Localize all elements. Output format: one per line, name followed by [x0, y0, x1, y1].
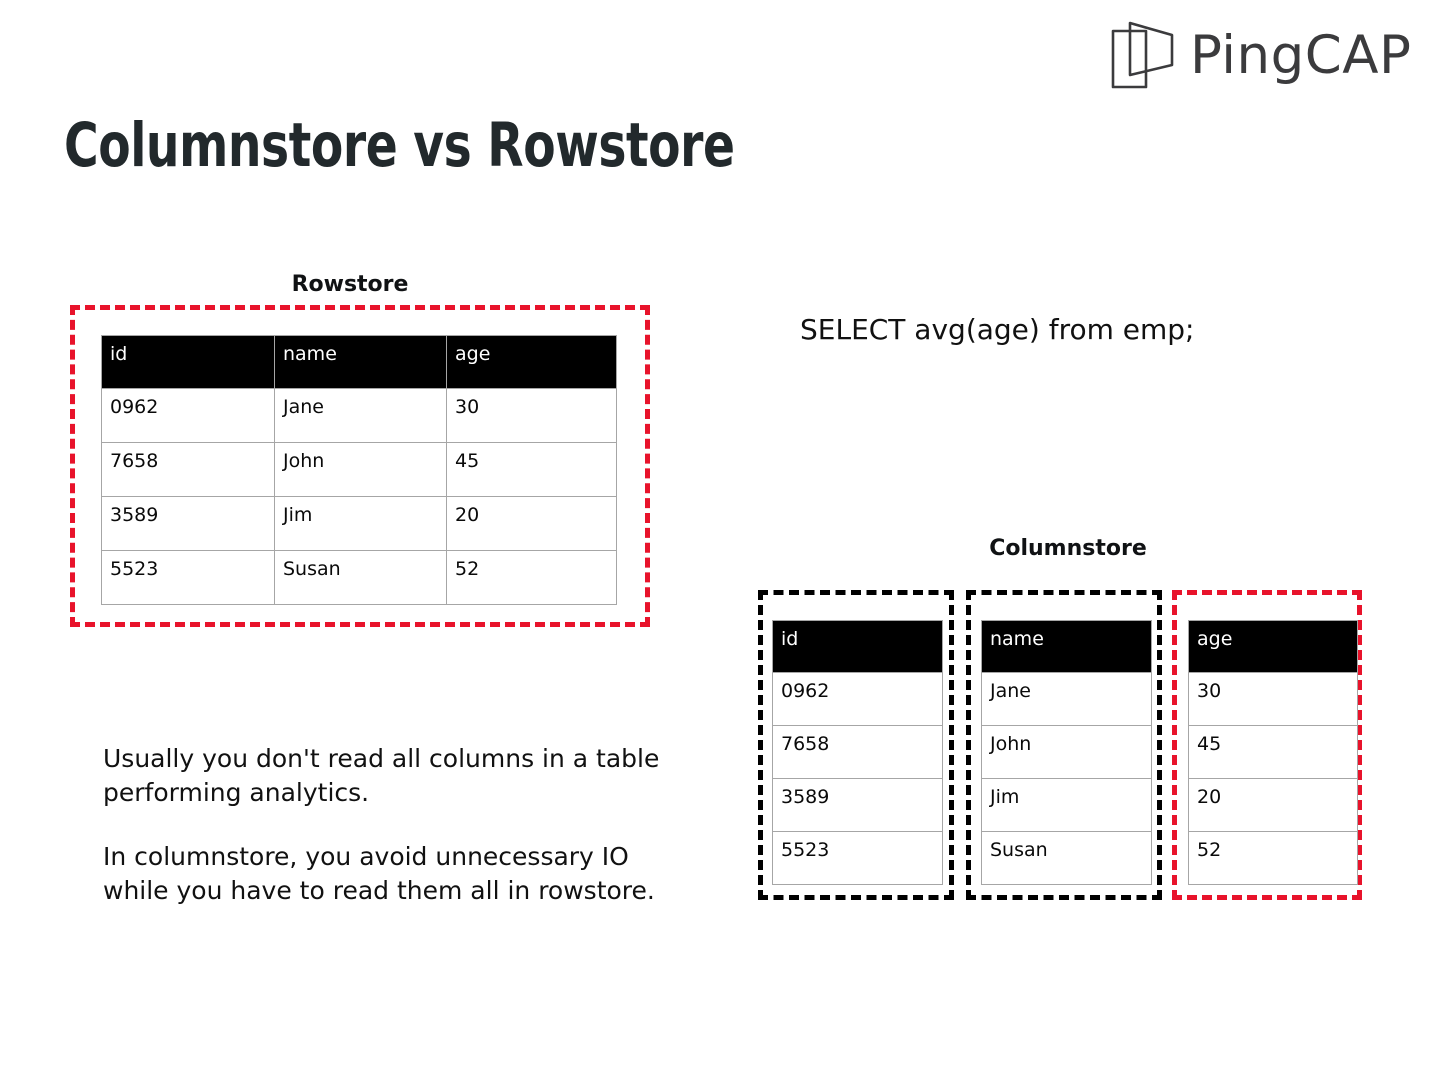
cell-name: Susan [275, 551, 447, 605]
cell-age: 30 [1189, 673, 1358, 726]
table-row: Jim [982, 779, 1152, 832]
column-header-age: age [1189, 621, 1358, 673]
column-header-name: name [982, 621, 1152, 673]
cell-id: 0962 [102, 389, 275, 443]
cell-id: 5523 [773, 832, 943, 885]
cell-name: John [275, 443, 447, 497]
rowstore-caption: Rowstore [190, 272, 510, 297]
table-row: 7658 John 45 [102, 443, 617, 497]
body-paragraph-1: Usually you don't read all columns in a … [103, 742, 678, 810]
column-header-name: name [275, 336, 447, 389]
table-row: Jane [982, 673, 1152, 726]
cell-id: 0962 [773, 673, 943, 726]
table-row: 5523 Susan 52 [102, 551, 617, 605]
table-row: 30 [1189, 673, 1358, 726]
cell-age: 45 [447, 443, 617, 497]
pingcap-logo: PingCAP [1110, 14, 1400, 96]
table-row: 0962 [773, 673, 943, 726]
table-row: 5523 [773, 832, 943, 885]
table-row: 0962 Jane 30 [102, 389, 617, 443]
slide-canvas: PingCAP Columnstore vs Rowstore Rowstore… [0, 0, 1440, 1080]
cell-id: 5523 [102, 551, 275, 605]
page-title: Columnstore vs Rowstore [64, 114, 735, 178]
columnstore-table-age: age 30 45 20 52 [1188, 620, 1358, 885]
cell-id: 3589 [773, 779, 943, 832]
cell-name: Jane [275, 389, 447, 443]
cell-name: Jim [982, 779, 1152, 832]
cell-id: 7658 [773, 726, 943, 779]
cell-id: 3589 [102, 497, 275, 551]
rowstore-table: id name age 0962 Jane 30 7658 John 45 35… [101, 335, 617, 605]
cell-age: 52 [447, 551, 617, 605]
body-paragraph-2: In columnstore, you avoid unnecessary IO… [103, 840, 678, 908]
cell-name: Susan [982, 832, 1152, 885]
columnstore-table-name: name Jane John Jim Susan [981, 620, 1152, 885]
cell-id: 7658 [102, 443, 275, 497]
table-header-row: id [773, 621, 943, 673]
columnstore-table-id: id 0962 7658 3589 5523 [772, 620, 943, 885]
table-header-row: age [1189, 621, 1358, 673]
cell-age: 30 [447, 389, 617, 443]
table-row: 20 [1189, 779, 1358, 832]
cell-age: 45 [1189, 726, 1358, 779]
cell-age: 20 [1189, 779, 1358, 832]
pingcap-wordmark: PingCAP [1190, 29, 1411, 82]
table-row: 3589 [773, 779, 943, 832]
cell-name: Jane [982, 673, 1152, 726]
cell-age: 20 [447, 497, 617, 551]
table-row: John [982, 726, 1152, 779]
table-row: 45 [1189, 726, 1358, 779]
table-header-row: name [982, 621, 1152, 673]
pingcap-logo-mark-icon [1110, 19, 1176, 91]
table-row: 7658 [773, 726, 943, 779]
cell-name: John [982, 726, 1152, 779]
table-row: 52 [1189, 832, 1358, 885]
sql-query-text: SELECT avg(age) from emp; [800, 313, 1195, 346]
column-header-id: id [102, 336, 275, 389]
table-header-row: id name age [102, 336, 617, 389]
cell-age: 52 [1189, 832, 1358, 885]
table-row: 3589 Jim 20 [102, 497, 617, 551]
column-header-age: age [447, 336, 617, 389]
columnstore-caption: Columnstore [908, 536, 1228, 561]
table-row: Susan [982, 832, 1152, 885]
cell-name: Jim [275, 497, 447, 551]
column-header-id: id [773, 621, 943, 673]
